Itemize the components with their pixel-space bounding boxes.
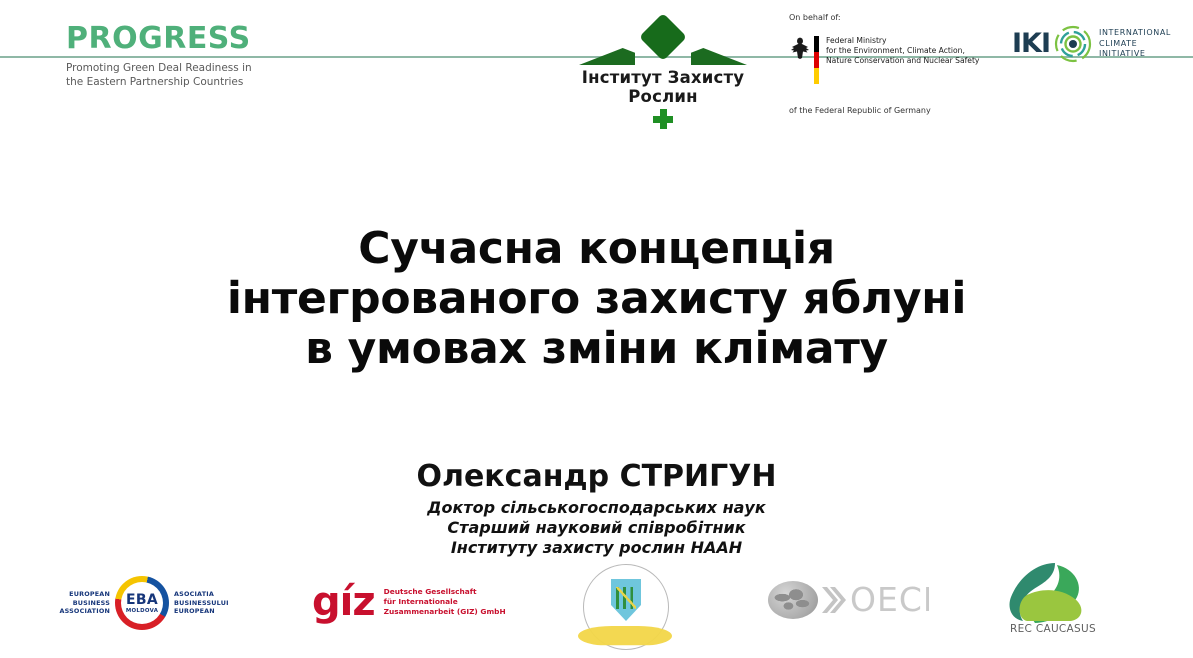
giz-name-line-1: Deutsche Gesellschaft	[384, 587, 506, 597]
author-credentials: Доктор сільськогосподарських наук Старши…	[0, 498, 1193, 558]
on-behalf-of-label: On behalf of:	[789, 12, 999, 24]
ministry-name: Federal Ministry for the Environment, Cl…	[826, 36, 979, 67]
eba-left-line-2: BUSINESS	[58, 599, 110, 607]
federal-ministry-logo: On behalf of: Federal Ministry for the E…	[789, 12, 999, 115]
institute-logo: Інститут Захисту Рослин	[553, 18, 773, 129]
iki-wordmark: IKI	[1012, 30, 1050, 58]
giz-full-name: Deutsche Gesellschaft für Internationale…	[384, 587, 506, 617]
leaf-right-shape	[691, 48, 747, 65]
footer-logo-row: EUROPEAN BUSINESS ASSOCIATION EBA MOLDOV…	[0, 556, 1193, 658]
author-name: Олександр СТРИГУН	[0, 459, 1193, 495]
eba-left-line-3: ASSOCIATION	[58, 607, 110, 615]
ministry-footer-label: of the Federal Republic of Germany	[789, 106, 999, 115]
eba-right-line-3: EUROPEAN	[174, 607, 230, 615]
ministry-name-line-1: Federal Ministry	[826, 36, 979, 46]
oecd-logo: OECD	[768, 581, 929, 619]
eba-left-text: EUROPEAN BUSINESS ASSOCIATION	[58, 590, 110, 615]
progress-wordmark: PROGRESS	[66, 22, 266, 56]
eba-ring-word: EBA	[126, 593, 158, 608]
green-cross-icon	[653, 109, 673, 129]
iki-tagline-line-1: INTERNATIONAL	[1099, 28, 1171, 39]
rec-caucasus-logo: REC CAUCASUS	[993, 561, 1113, 653]
eba-left-line-1: EUROPEAN	[58, 590, 110, 598]
giz-name-line-3: Zusammenarbeit (GIZ) GmbH	[384, 607, 506, 617]
eba-right-text: ASOCIATIA BUSINESSULUI EUROPEAN	[174, 590, 230, 615]
leaf-left-shape	[579, 48, 635, 65]
author-credentials-line-1: Доктор сільськогосподарських наук	[0, 498, 1193, 518]
emblem-ribbon-banner	[578, 626, 672, 646]
slide-title-line-1: Сучасна концепція	[0, 224, 1193, 274]
green-swoosh-icon	[997, 561, 1101, 627]
institute-name: Інститут Захисту Рослин	[553, 68, 773, 106]
progress-tagline-line-2: the Eastern Partnership Countries	[66, 75, 266, 89]
circular-shield-emblem-icon	[566, 564, 686, 656]
author-credentials-line-3: Інституту захисту рослин НААН	[0, 538, 1193, 558]
ministry-name-line-2: for the Environment, Climate Action,	[826, 46, 979, 56]
leaf-diamond-shape	[639, 13, 687, 61]
eba-right-line-1: ASOCIATIA	[174, 590, 230, 598]
giz-wordmark: gíz	[312, 582, 375, 622]
iki-tagline-line-3: INITIATIVE	[1099, 49, 1171, 60]
double-chevron-icon	[820, 583, 846, 617]
rec-caucasus-name: REC CAUCASUS	[993, 623, 1113, 635]
eba-ring-sub: MOLDOVA	[126, 608, 158, 614]
progress-tagline-line-1: Promoting Green Deal Readiness in	[66, 61, 266, 75]
slide-title: Сучасна концепція інтегрованого захисту …	[0, 224, 1193, 374]
iki-tagline-line-2: CLIMATE	[1099, 39, 1171, 50]
oecd-wordmark: OECD	[850, 583, 929, 617]
iki-tagline: INTERNATIONAL CLIMATE INITIATIVE	[1099, 28, 1171, 60]
grey-globe-icon	[768, 581, 818, 619]
giz-logo: gíz Deutsche Gesellschaft für Internatio…	[312, 582, 506, 622]
giz-name-line-2: für Internationale	[384, 597, 506, 607]
author-credentials-line-2: Старший науковий співробітник	[0, 518, 1193, 538]
ministry-name-line-3: Nature Conservation and Nuclear Safety	[826, 56, 979, 66]
german-eagle-icon	[789, 36, 811, 60]
green-shield-leaf-icon	[553, 18, 773, 66]
iki-logo: IKI INTERNATIONAL CLIMATE INITIATIVE	[1012, 25, 1171, 63]
eba-moldova-logo: EUROPEAN BUSINESS ASSOCIATION EBA MOLDOV…	[58, 576, 230, 630]
progress-logo: PROGRESS Promoting Green Deal Readiness …	[66, 22, 266, 89]
iki-concentric-circles-icon	[1054, 25, 1092, 63]
author-block: Олександр СТРИГУН Доктор сільськогоспода…	[0, 459, 1193, 558]
eba-right-line-2: BUSINESSULUI	[174, 599, 230, 607]
slide-title-line-3: в умовах зміни клімату	[0, 324, 1193, 374]
progress-tagline: Promoting Green Deal Readiness in the Ea…	[66, 61, 266, 89]
german-flag-bar-icon	[814, 36, 819, 84]
eba-ring-icon: EBA MOLDOVA	[115, 576, 169, 630]
slide-header: PROGRESS Promoting Green Deal Readiness …	[0, 0, 1193, 140]
slide-title-line-2: інтегрованого захисту яблуні	[0, 274, 1193, 324]
